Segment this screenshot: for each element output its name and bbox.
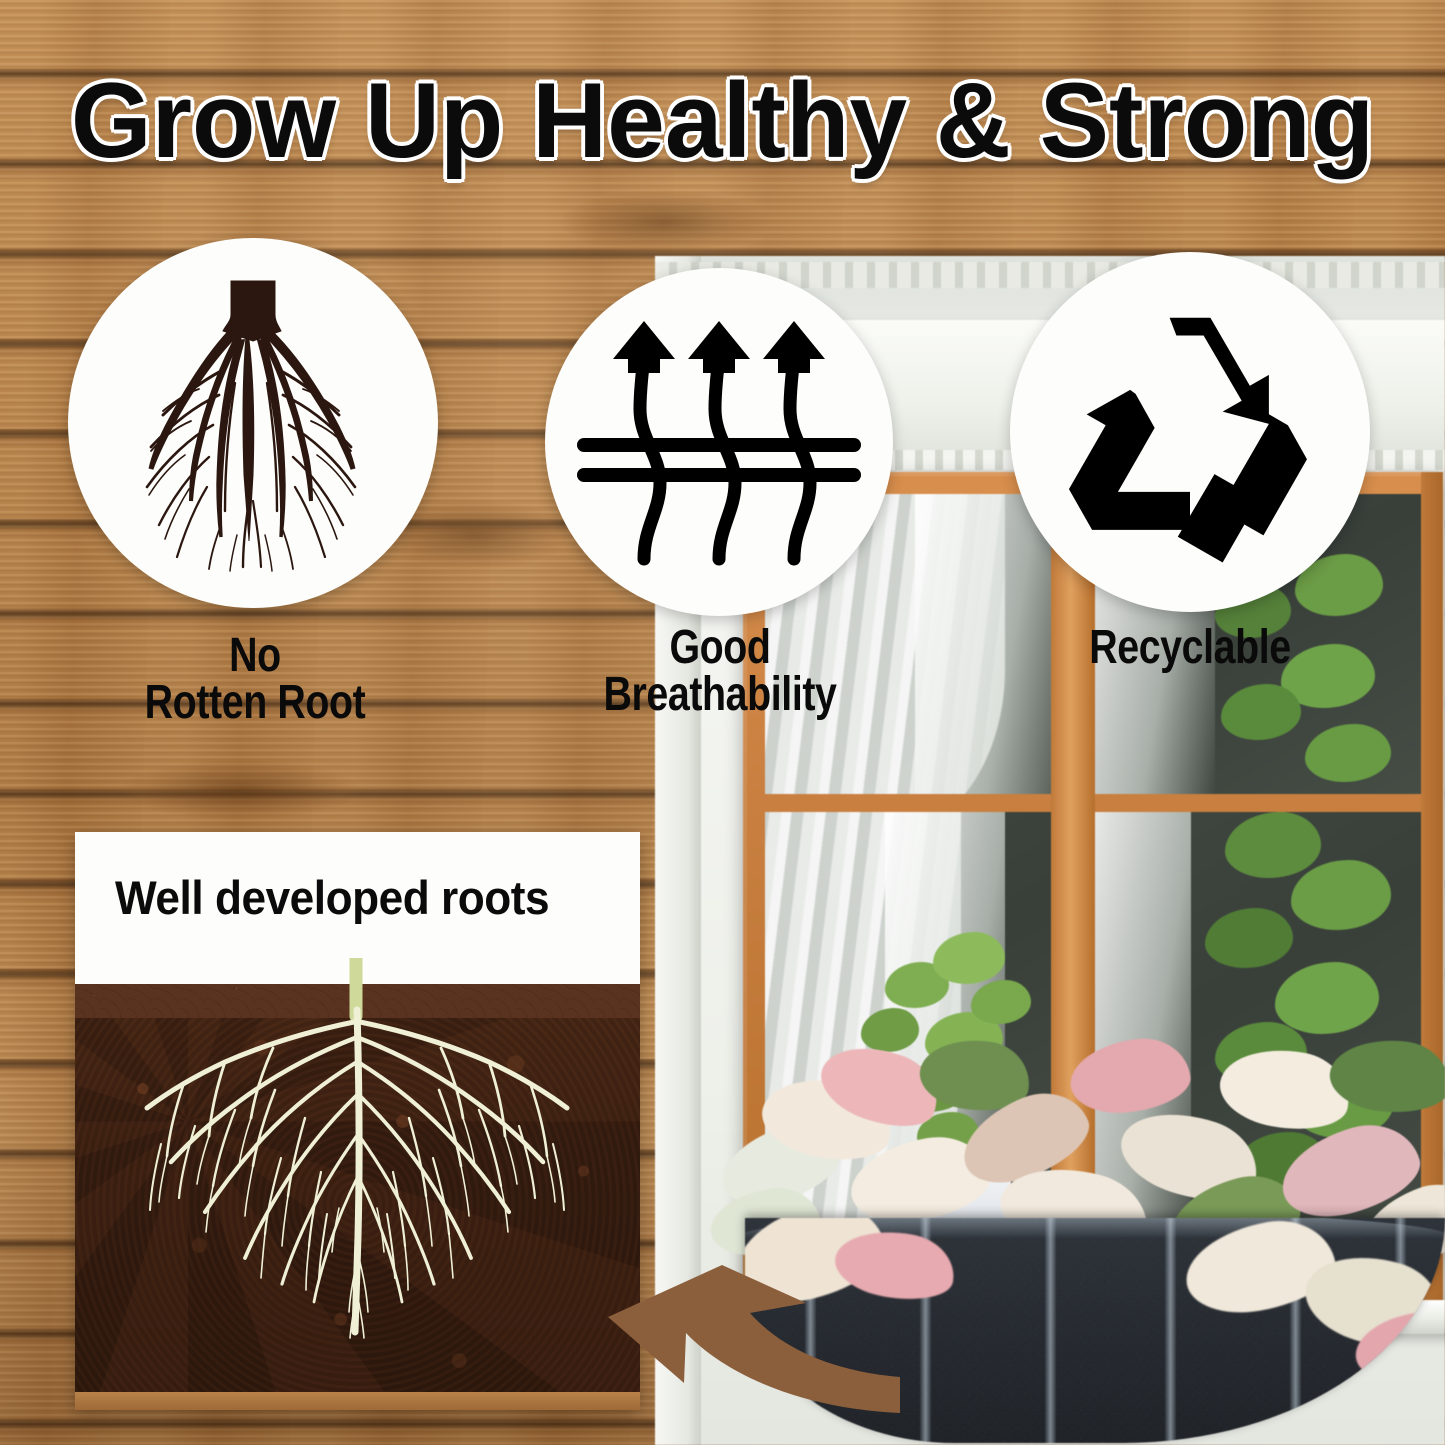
planter-support-rib: [1165, 1218, 1176, 1443]
arrow-shape: [600, 1255, 940, 1445]
feature-icon-circle-good-breathability: [545, 268, 893, 616]
well-developed-roots-panel: Well developed roots: [75, 832, 640, 1410]
recycle-icon: [1054, 296, 1326, 568]
planter-support-rib: [1045, 1218, 1056, 1443]
feature-icon-circle-recyclable: [1010, 252, 1370, 612]
curved-pointer-arrow: [600, 1255, 940, 1445]
root-network-illustration: [75, 958, 640, 1408]
root-system-icon: [103, 273, 403, 573]
roots-panel-title: Well developed roots: [115, 870, 549, 925]
feature-label-no-rotten-root: No Rotten Root: [71, 632, 440, 726]
product-feature-image: Grow Up Healthy & Strong: [0, 0, 1445, 1445]
breathability-arrows-icon: [574, 297, 864, 587]
panel-base-strip: [75, 1392, 640, 1410]
feature-label-good-breathability: Good Breathability: [536, 624, 905, 718]
feature-icon-circle-no-rotten-root: [68, 238, 438, 608]
feature-label-recyclable: Recyclable: [1006, 624, 1375, 671]
page-title: Grow Up Healthy & Strong: [22, 60, 1424, 180]
soil-cross-section: [75, 998, 640, 1410]
